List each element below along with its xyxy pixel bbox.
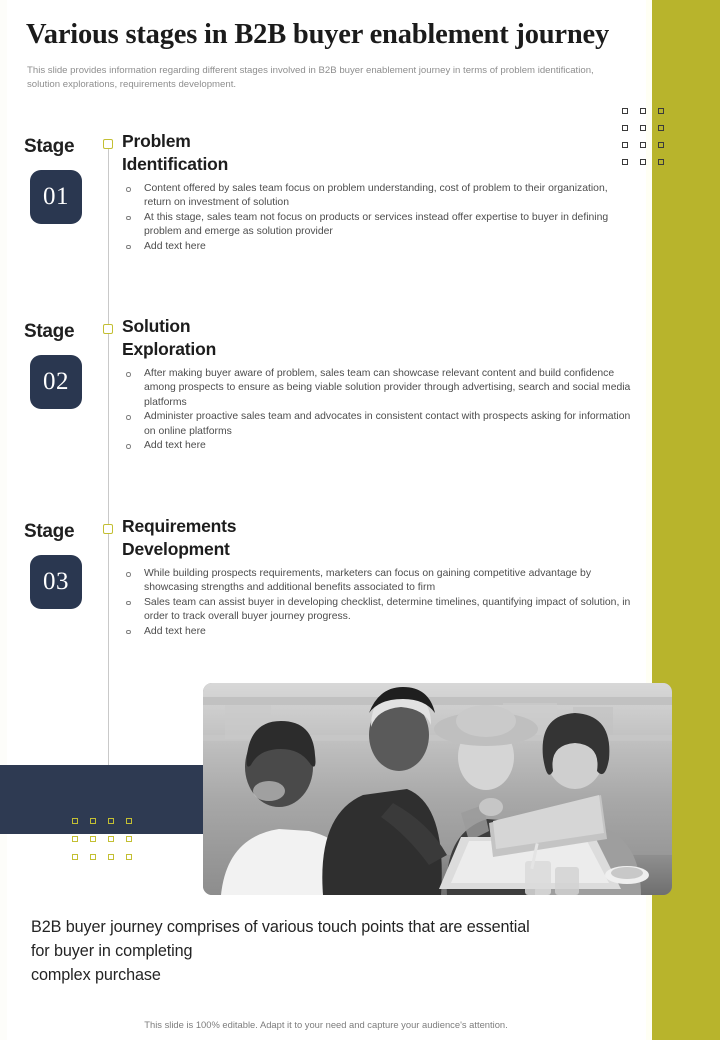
list-item: Add text here	[122, 625, 634, 639]
stage-heading-line2: Identification	[122, 153, 502, 176]
closing-statement-line2: for buyer in completing	[31, 939, 631, 963]
list-item: Administer proactive sales team and advo…	[122, 410, 634, 439]
list-item: While building prospects requirements, m…	[122, 567, 634, 596]
stage-heading-2: Solution Exploration	[122, 315, 502, 361]
list-item: Content offered by sales team focus on p…	[122, 182, 634, 211]
slide-canvas: Various stages in B2B buyer enablement j…	[0, 0, 720, 1040]
page-title: Various stages in B2B buyer enablement j…	[26, 18, 666, 52]
stage-number-badge-2: 02	[30, 355, 82, 409]
team-collaboration-photo	[203, 683, 672, 895]
dot-grid-bottom-left-icon	[72, 818, 144, 872]
stage-bullet-list-3: While building prospects requirements, m…	[122, 567, 634, 639]
closing-statement-line1: B2B buyer journey comprises of various t…	[31, 915, 631, 939]
stage-label-2: Stage	[24, 321, 74, 343]
list-item: Sales team can assist buyer in developin…	[122, 596, 634, 625]
stage-heading-line1: Solution	[122, 315, 502, 338]
stage-marker-icon-1	[103, 139, 113, 149]
list-item: Add text here	[122, 240, 634, 254]
stage-bullet-list-2: After making buyer aware of problem, sal…	[122, 367, 634, 453]
list-item: At this stage, sales team not focus on p…	[122, 211, 634, 240]
stage-heading-line2: Development	[122, 538, 502, 561]
stage-bullet-list-1: Content offered by sales team focus on p…	[122, 182, 634, 254]
stage-number-badge-3: 03	[30, 555, 82, 609]
closing-statement-line3: complex purchase	[31, 963, 631, 987]
stage-heading-line1: Requirements	[122, 515, 502, 538]
page-subtitle: This slide provides information regardin…	[27, 64, 627, 91]
footer-note: This slide is 100% editable. Adapt it to…	[0, 1019, 652, 1030]
stage-timeline-line	[108, 148, 109, 772]
stage-heading-1: Problem Identification	[122, 130, 502, 176]
stage-label-1: Stage	[24, 136, 74, 158]
list-item: Add text here	[122, 439, 634, 453]
stage-heading-line1: Problem	[122, 130, 502, 153]
dot-grid-top-right-icon	[622, 108, 676, 176]
stage-number-badge-1: 01	[30, 170, 82, 224]
left-edge-strip	[0, 0, 7, 1040]
closing-statement: B2B buyer journey comprises of various t…	[31, 915, 631, 987]
stage-heading-3: Requirements Development	[122, 515, 502, 561]
stage-heading-line2: Exploration	[122, 338, 502, 361]
stage-label-3: Stage	[24, 521, 74, 543]
stage-marker-icon-2	[103, 324, 113, 334]
stage-marker-icon-3	[103, 524, 113, 534]
list-item: After making buyer aware of problem, sal…	[122, 367, 634, 410]
